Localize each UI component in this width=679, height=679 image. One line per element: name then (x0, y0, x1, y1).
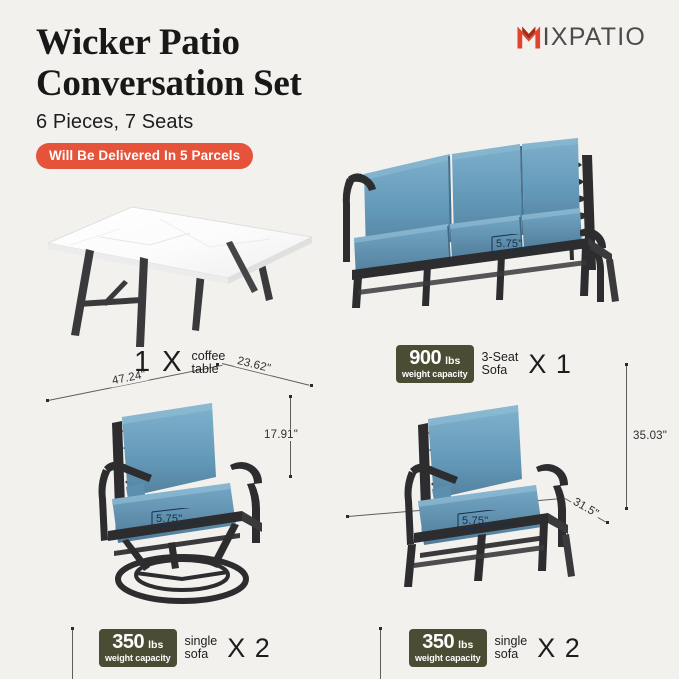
quantity-coffee-table: 1 X (134, 348, 184, 377)
coffee-table-illustration (40, 185, 320, 350)
caption-swivel-single-sofa: 350 lbs weight capacity single sofa X 2 (99, 629, 271, 667)
product-name-line-2: Sofa (482, 363, 508, 377)
weight-capacity-badge-swivel: 350 lbs weight capacity (99, 629, 177, 667)
badge-unit: lbs (148, 640, 163, 651)
product-three-seat-sofa: 5.75" 35.03" 78.35" 31.5" (330, 130, 660, 330)
three-seat-sofa-illustration (330, 130, 660, 330)
badge-value: 350 (112, 632, 144, 652)
weight-capacity-badge-sofa: 900 lbs weight capacity (396, 345, 474, 383)
caption-coffee-table: 1 X coffee table (134, 348, 225, 377)
page-title-line-1: Wicker Patio (36, 22, 456, 63)
brand-name: IXPATIO (543, 23, 646, 52)
dim-bracket-swivel-cushion (148, 508, 218, 530)
product-name-line-1: 3-Seat (482, 350, 519, 364)
weight-capacity-badge-chair: 350 lbs weight capacity (409, 629, 487, 667)
badge-unit: lbs (445, 356, 460, 367)
product-swivel-single-sofa: 5.75" 35.03" 31.5" 28.35" (60, 395, 330, 610)
product-name-line-2: sofa (495, 647, 519, 661)
page-title-line-2: Conversation Set (36, 63, 456, 104)
product-name-line-1: coffee (192, 349, 226, 363)
quantity-static-single-sofa: X 2 (537, 635, 581, 662)
quantity-swivel-single-sofa: X 2 (227, 635, 271, 662)
product-name-static-single-sofa: single sofa (495, 635, 528, 661)
single-chair-illustration (370, 395, 640, 610)
product-name-three-seat-sofa: 3-Seat Sofa (482, 351, 519, 377)
dim-bracket-sofa-cushion (488, 234, 560, 256)
delivery-parcels-badge: Will Be Delivered In 5 Parcels (36, 143, 253, 169)
product-name-line-1: single (185, 634, 218, 648)
badge-caption: weight capacity (402, 370, 468, 379)
product-infographic: Wicker Patio Conversation Set 6 Pieces, … (0, 0, 679, 679)
m-logo-icon (516, 25, 542, 50)
badge-caption: weight capacity (415, 654, 481, 663)
caption-three-seat-sofa: 900 lbs weight capacity 3-Seat Sofa X 1 (396, 345, 572, 383)
badge-value: 900 (409, 348, 441, 368)
caption-static-single-sofa: 350 lbs weight capacity single sofa X 2 (409, 629, 581, 667)
badge-value: 350 (422, 632, 454, 652)
product-name-line-1: single (495, 634, 528, 648)
dim-bracket-chair-cushion (454, 510, 524, 532)
badge-unit: lbs (458, 640, 473, 651)
product-name-line-2: sofa (185, 647, 209, 661)
dim-label-coffee-table-depth: 23.62" (234, 355, 274, 376)
product-name-line-2: table (192, 362, 219, 376)
brand-logo: IXPATIO (516, 23, 646, 52)
product-name-swivel-single-sofa: single sofa (185, 635, 218, 661)
swivel-chair-illustration (60, 395, 330, 610)
product-name-coffee-table: coffee table (192, 350, 226, 376)
quantity-three-seat-sofa: X 1 (528, 351, 572, 378)
product-coffee-table: 47.24" 23.62" 17.91" (40, 185, 320, 350)
badge-caption: weight capacity (105, 654, 171, 663)
product-static-single-sofa: 5.75" 35.03" 31.5" 28.35" (370, 395, 640, 610)
